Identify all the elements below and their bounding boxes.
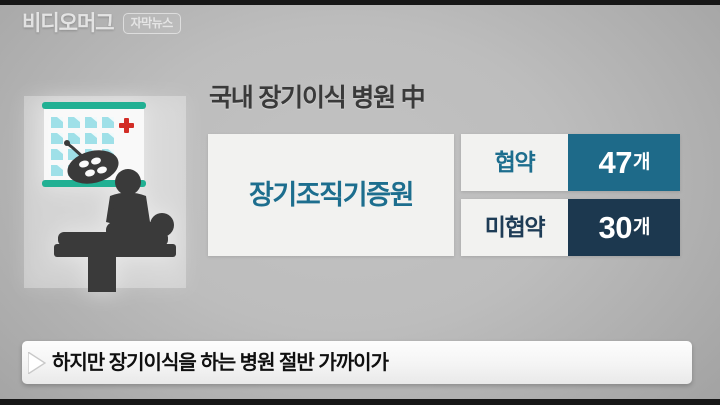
top-letterbox-bar [0,0,720,5]
stat-value-box: 47 개 [568,134,680,191]
channel-branding: 비디오머그 자막뉴스 [22,13,181,34]
news-infographic-frame: 비디오머그 자막뉴스 [0,0,720,405]
stat-unit: 개 [633,153,649,172]
subtitle-caption-bar: 하지만 장기이식을 하는 병원 절반 가까이가 [22,341,692,384]
channel-logo: 비디오머그 [22,13,114,34]
program-badge: 자막뉴스 [123,13,181,34]
organ-transplant-surgery-illustration [20,92,190,292]
statistics-panel: 장기조직기증원 협약 47 개 미협약 30 개 [208,134,680,256]
stat-value-box: 30 개 [568,199,680,256]
statistics-rows: 협약 47 개 미협약 30 개 [461,134,680,256]
stat-label: 협약 [461,134,568,191]
stat-unit: 개 [633,218,649,237]
bottom-letterbox-bar [0,399,720,405]
table-row: 미협약 30 개 [461,199,680,256]
main-subject-box: 장기조직기증원 [208,134,454,256]
stat-number: 30 [599,212,632,243]
subtitle-text: 하지만 장기이식을 하는 병원 절반 가까이가 [52,353,388,373]
table-row: 협약 47 개 [461,134,680,191]
main-subject-label: 장기조직기증원 [249,182,413,209]
stat-number: 47 [599,147,632,178]
play-triangle-icon [22,341,50,384]
stat-label: 미협약 [461,199,568,256]
page-title: 국내 장기이식 병원 中 [209,86,424,111]
